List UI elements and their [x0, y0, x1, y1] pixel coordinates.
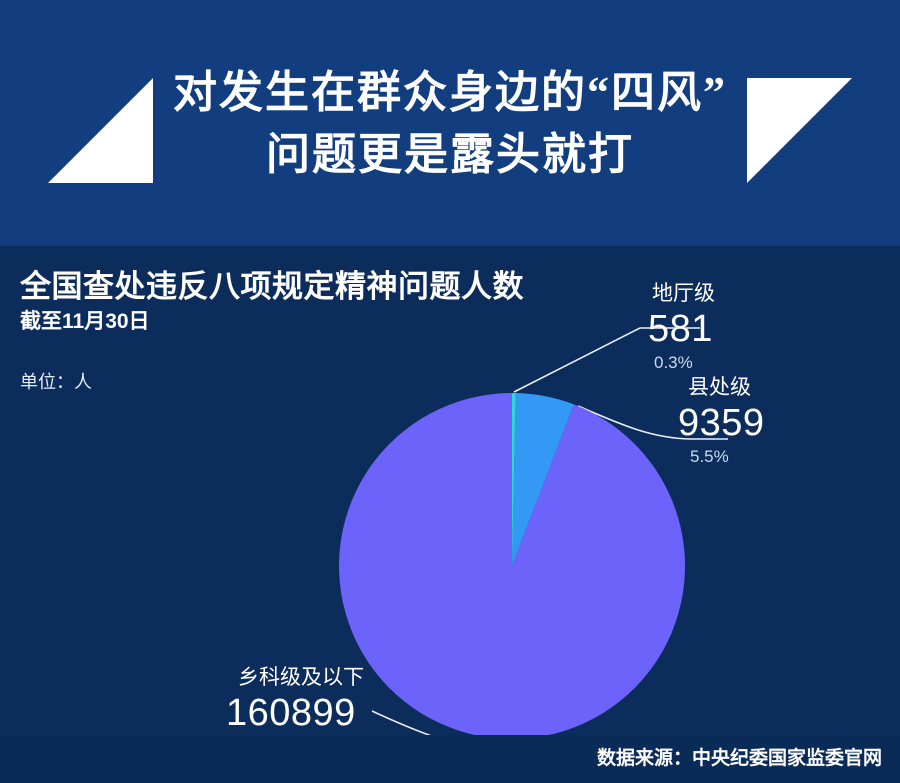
pie-slices — [339, 393, 685, 739]
callout-xianchuji-name: 县处级 — [688, 375, 765, 401]
callout-xiangkeji-name: 乡科级及以下 — [238, 665, 364, 691]
footer-bar: 数据来源：中央纪委国家监委官网 — [0, 735, 900, 783]
panel-heading: 全国查处违反八项规定精神问题人数 截至11月30日 — [20, 268, 524, 336]
callout-xianchuji: 县处级 9359 5.5% — [684, 375, 765, 469]
header-banner: 对发生在群众身边的“四风” 问题更是露头就打 — [0, 0, 900, 246]
footer-source-text: 数据来源：中央纪委国家监委官网 — [597, 747, 882, 771]
header-title-line-1: 对发生在群众身边的“四风” — [0, 62, 900, 124]
callout-xianchuji-percent: 5.5% — [690, 445, 765, 469]
callout-xiangkeji-value: 160899 — [226, 691, 364, 735]
panel-unit-label: 单位：人 — [20, 370, 92, 394]
infographic-root: 对发生在群众身边的“四风” 问题更是露头就打 全国查处违反八项规定精神问题人数 … — [0, 0, 900, 783]
header-title-line-2: 问题更是露头就打 — [0, 124, 900, 186]
panel-subtitle: 截至11月30日 — [20, 308, 524, 336]
callout-ditingji-value: 581 — [648, 307, 715, 351]
panel-title: 全国查处违反八项规定精神问题人数 — [20, 268, 524, 306]
callout-ditingji-name: 地厅级 — [652, 281, 715, 307]
callout-xianchuji-value: 9359 — [678, 401, 765, 445]
callout-ditingji-percent: 0.3% — [654, 351, 715, 375]
header-title: 对发生在群众身边的“四风” 问题更是露头就打 — [0, 62, 900, 186]
callout-ditingji: 地厅级 581 0.3% — [652, 281, 715, 375]
